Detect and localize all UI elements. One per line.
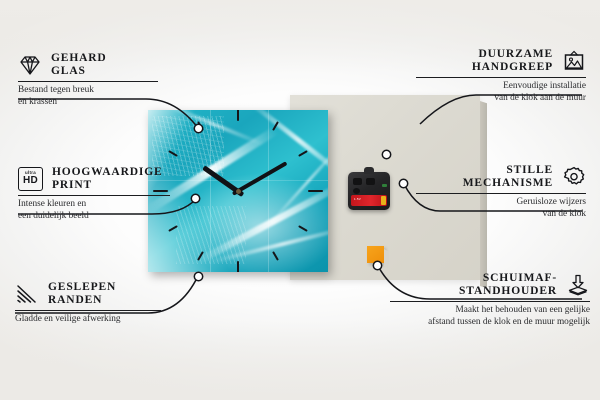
subtitle-line: en krassen [18, 97, 168, 109]
feature-subtitle: Bestand tegen breuk en krassen [18, 85, 168, 109]
title-line: GLAS [51, 65, 107, 78]
title-line: DUURZAME [472, 48, 553, 61]
title-line: STANDHOUDER [459, 285, 557, 298]
ultra-hd-icon-bottom: HD [23, 176, 38, 186]
feature-stille-mechanisme[interactable]: STILLE MECHANISME Geruisloze wijzers van… [416, 164, 586, 221]
title-line: SCHUIMAF- [459, 272, 557, 285]
feature-hoogwaardige-print[interactable]: ultra HD HOOGWAARDIGE PRINT Intense kleu… [18, 166, 178, 223]
feature-title: HOOGWAARDIGE PRINT [52, 166, 163, 192]
feature-gehard-glas[interactable]: GEHARD GLAS Bestand tegen breuk en krass… [18, 52, 168, 109]
product-feature-infographic: 1.5V GEHA [0, 0, 600, 400]
feature-subtitle: Gladde en veilige afwerking [15, 314, 165, 326]
subtitle-line: afstand tussen de klok en de muur mogeli… [390, 317, 590, 329]
wire-node-hoogwaardige-print [191, 194, 199, 202]
feature-divider [18, 81, 158, 83]
feature-title-row: GEHARD GLAS [18, 52, 168, 78]
press-down-spacer-icon [566, 273, 590, 297]
feature-duurzame-handgreep[interactable]: DUURZAME HANDGREEP Eenvoudige installati… [416, 48, 586, 105]
feature-title: SCHUIMAF- STANDHOUDER [459, 272, 557, 298]
feature-divider [416, 77, 586, 79]
feature-title: DUURZAME HANDGREEP [472, 48, 553, 74]
feature-title-row: SCHUIMAF- STANDHOUDER [390, 272, 590, 298]
beveled-edges-icon [15, 282, 39, 306]
picture-frame-icon [562, 49, 586, 73]
title-line: MECHANISME [463, 177, 553, 190]
subtitle-line: Gladde en veilige afwerking [15, 314, 165, 326]
title-line: STILLE [463, 164, 553, 177]
title-line: HANDGREEP [472, 61, 553, 74]
wire-node-duurzame-handgreep [382, 150, 390, 158]
gear-icon [562, 165, 586, 189]
feature-geslepen-randen[interactable]: GESLEPEN RANDEN Gladde en veilige afwerk… [15, 281, 165, 326]
ultra-hd-icon: ultra HD [18, 167, 43, 191]
title-line: GEHARD [51, 52, 107, 65]
feature-divider [18, 195, 170, 197]
feature-title: STILLE MECHANISME [463, 164, 553, 190]
wire-node-geslepen-randen [194, 272, 202, 280]
subtitle-line: Geruisloze wijzers [416, 197, 586, 209]
feature-schuimafstandhouder[interactable]: SCHUIMAF- STANDHOUDER Maakt het behouden… [390, 272, 590, 329]
subtitle-line: Maakt het behouden van een gelijke [390, 305, 590, 317]
feature-title-row: DUURZAME HANDGREEP [416, 48, 586, 74]
wire-node-stille-mechanisme [399, 179, 407, 187]
feature-subtitle: Eenvoudige installatie van de klok aan d… [416, 81, 586, 105]
feature-title-row: STILLE MECHANISME [416, 164, 586, 190]
subtitle-line: Intense kleuren en [18, 199, 178, 211]
title-line: GESLEPEN [48, 281, 116, 294]
feature-divider [416, 193, 586, 195]
subtitle-line: Bestand tegen breuk [18, 85, 168, 97]
wire-node-schuimafstandhouder [373, 261, 381, 269]
feature-title-row: GESLEPEN RANDEN [15, 281, 165, 307]
feature-divider [15, 310, 161, 312]
title-line: RANDEN [48, 294, 116, 307]
title-line: HOOGWAARDIGE [52, 166, 163, 179]
diamond-icon [18, 53, 42, 77]
feature-title-row: ultra HD HOOGWAARDIGE PRINT [18, 166, 178, 192]
feature-title: GESLEPEN RANDEN [48, 281, 116, 307]
title-line: PRINT [52, 179, 163, 192]
feature-subtitle: Maakt het behouden van een gelijke afsta… [390, 305, 590, 329]
subtitle-line: van de klok [416, 209, 586, 221]
feature-title: GEHARD GLAS [51, 52, 107, 78]
feature-subtitle: Geruisloze wijzers van de klok [416, 197, 586, 221]
subtitle-line: van de klok aan de muur [416, 93, 586, 105]
wire-node-gehard-glas [194, 124, 202, 132]
feature-divider [390, 301, 590, 303]
subtitle-line: Eenvoudige installatie [416, 81, 586, 93]
feature-subtitle: Intense kleuren en een duidelijk beeld [18, 199, 178, 223]
subtitle-line: een duidelijk beeld [18, 211, 178, 223]
